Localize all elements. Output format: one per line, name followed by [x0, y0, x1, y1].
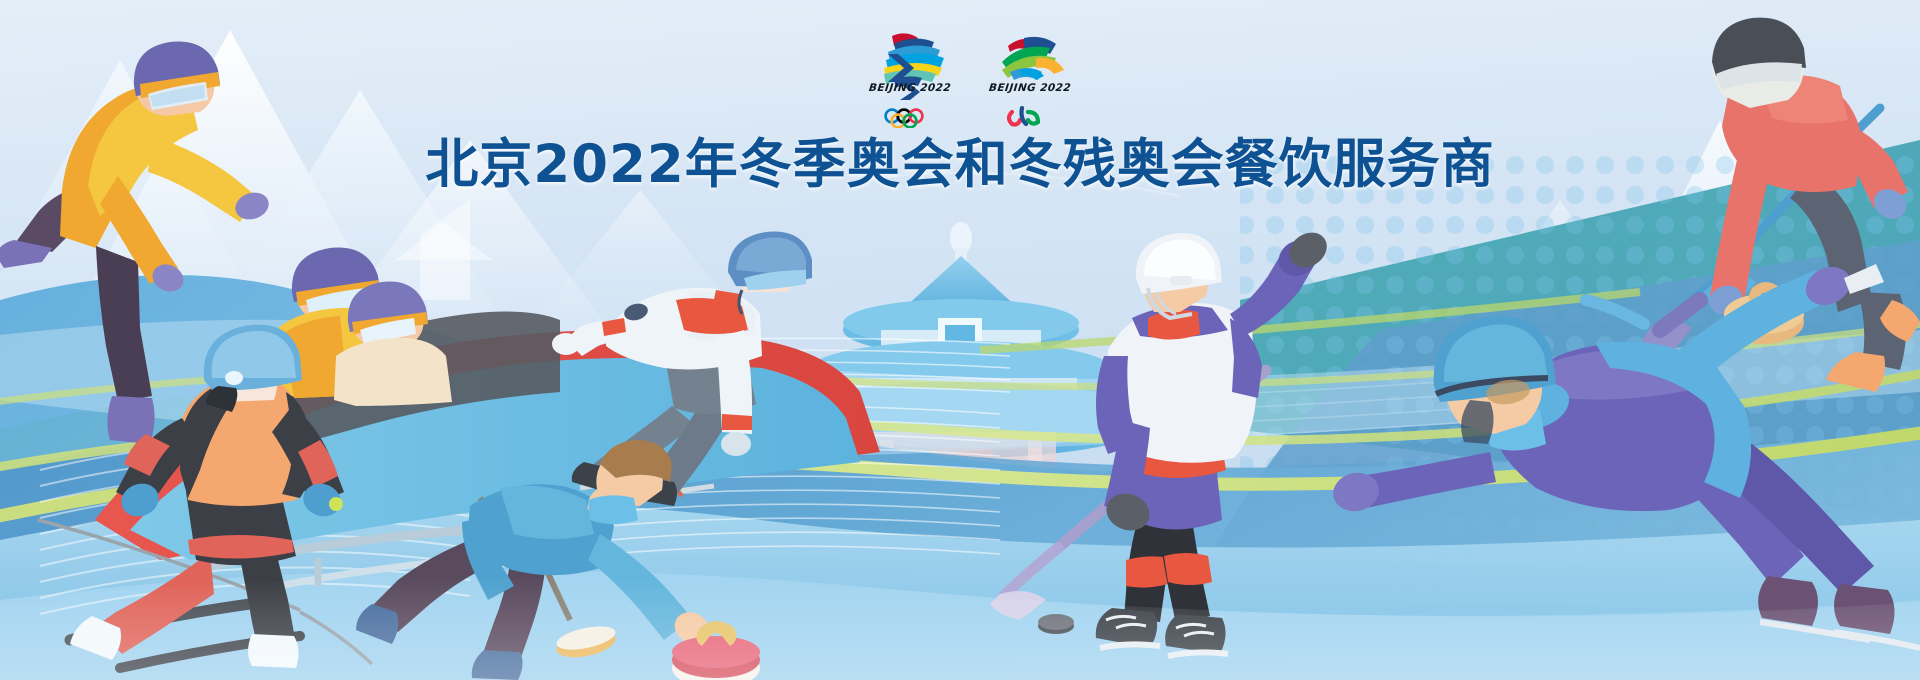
paralympic-winter-games-emblem: BEIJING 2022 — [980, 24, 1080, 128]
emblem-group: BEIJING 2022 BEIJING 2022 — [860, 24, 1080, 128]
paralympic-emblem-graphic — [980, 24, 1080, 128]
beijing-2022-catering-banner: BEIJING 2022 BEIJING 2022 北京2022年冬季奥会 — [0, 0, 1920, 680]
paralympic-emblem-wordmark: BEIJING 2022 — [979, 82, 1080, 94]
olympic-winter-games-emblem: BEIJING 2022 — [860, 24, 960, 128]
olympic-emblem-graphic — [860, 24, 960, 128]
olympic-emblem-wordmark: BEIJING 2022 — [859, 82, 960, 94]
